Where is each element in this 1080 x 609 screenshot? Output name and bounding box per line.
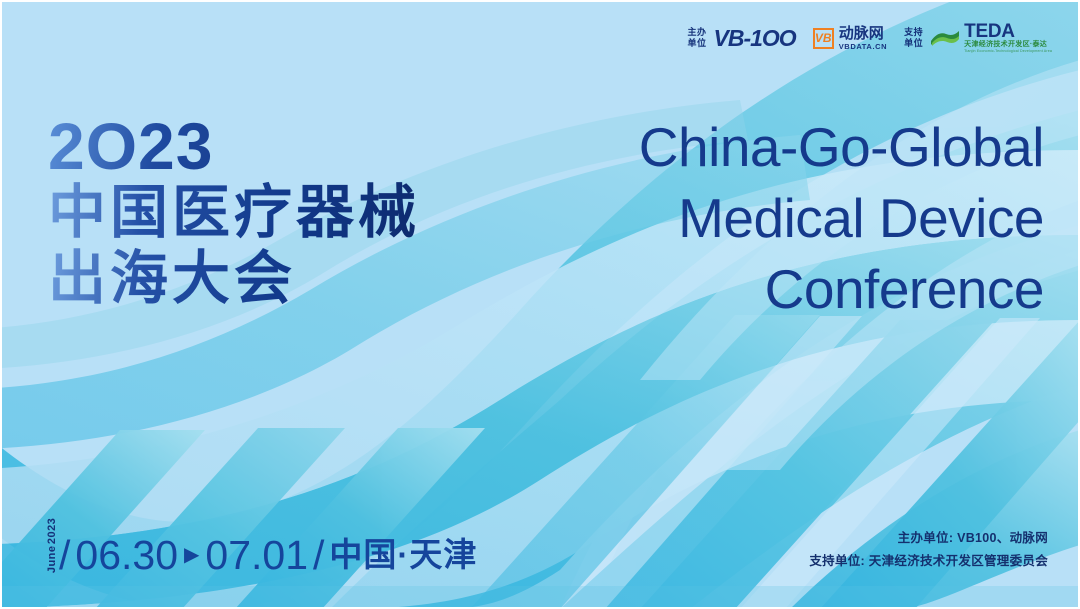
host-sponsor-group: 主办 单位 VB-1OO bbox=[688, 27, 796, 50]
teda-name-en: Tianjin Economic-Technological Developme… bbox=[964, 49, 1052, 54]
date-start: 06.30 bbox=[75, 533, 178, 577]
sponsor-logo-bar: 主办 单位 VB-1OO VB 动脉网 VBDATA.CN 支持 单位 bbox=[688, 22, 1053, 54]
host-unit-label-line2: 单位 bbox=[688, 38, 707, 48]
vbdata-mark-icon: VB bbox=[813, 28, 834, 49]
english-title-block: China-Go-Global Medical Device Conferenc… bbox=[639, 112, 1044, 325]
support-unit-label-line2: 单位 bbox=[904, 38, 923, 48]
english-title-line-3: Conference bbox=[639, 254, 1044, 325]
date-arrow-icon: ▶ bbox=[184, 545, 199, 565]
teda-logo[interactable]: TEDA 天津经济技术开发区·泰达 Tianjin Economic-Techn… bbox=[930, 22, 1052, 54]
month-year-vertical: June 2023 bbox=[46, 518, 58, 573]
date-range: / 06.30 ▶ 07.01 / 中国·天津 bbox=[59, 533, 477, 577]
vbdata-name-en: VBDATA.CN bbox=[839, 42, 887, 51]
teda-name: TEDA bbox=[964, 22, 1052, 41]
english-title-line-1: China-Go-Global bbox=[639, 112, 1044, 183]
support-sponsor-group: 支持 单位 TEDA 天津经济技术开发区·泰达 Tianjin Economic… bbox=[904, 22, 1052, 54]
vbdata-text-block: 动脉网 VBDATA.CN bbox=[839, 26, 887, 51]
date-end: 07.01 bbox=[205, 533, 308, 577]
vbdata-logo[interactable]: VB 动脉网 VBDATA.CN bbox=[813, 26, 887, 51]
english-title-line-2: Medical Device bbox=[639, 183, 1044, 254]
support-unit-label: 支持 单位 bbox=[904, 27, 923, 49]
organizer-line: 主办单位: VB100、动脉网 bbox=[809, 527, 1048, 550]
year-heading: 2O23 bbox=[48, 112, 420, 180]
conference-poster: 主办 单位 VB-1OO VB 动脉网 VBDATA.CN 支持 单位 bbox=[0, 0, 1080, 609]
date-slash-1: / bbox=[59, 533, 70, 577]
date-location-strip: June 2023 / 06.30 ▶ 07.01 / 中国·天津 bbox=[46, 518, 477, 577]
location-city: 中国·天津 bbox=[329, 533, 477, 577]
chinese-title-line-2: 出海大会 bbox=[48, 246, 420, 312]
date-year: 2023 bbox=[46, 518, 58, 544]
teda-text-block: TEDA 天津经济技术开发区·泰达 Tianjin Economic-Techn… bbox=[964, 22, 1052, 54]
teda-swoosh-icon bbox=[930, 29, 960, 47]
date-slash-2: / bbox=[313, 533, 324, 577]
chinese-title-block: 2O23 中国医疗器械 出海大会 bbox=[48, 112, 420, 312]
host-unit-label: 主办 单位 bbox=[688, 27, 707, 49]
vb100-logo[interactable]: VB-1OO bbox=[714, 27, 796, 50]
organizer-footer: 主办单位: VB100、动脉网 支持单位: 天津经济技术开发区管理委员会 bbox=[809, 527, 1048, 573]
vbdata-name-cn: 动脉网 bbox=[839, 26, 887, 41]
date-month: June bbox=[46, 545, 58, 573]
supporter-line: 支持单位: 天津经济技术开发区管理委员会 bbox=[809, 550, 1048, 573]
chinese-title-line-1: 中国医疗器械 bbox=[48, 180, 420, 246]
host-unit-label-line1: 主办 bbox=[688, 27, 707, 37]
teda-name-cn: 天津经济技术开发区·泰达 bbox=[964, 41, 1052, 49]
support-unit-label-line1: 支持 bbox=[904, 27, 923, 37]
